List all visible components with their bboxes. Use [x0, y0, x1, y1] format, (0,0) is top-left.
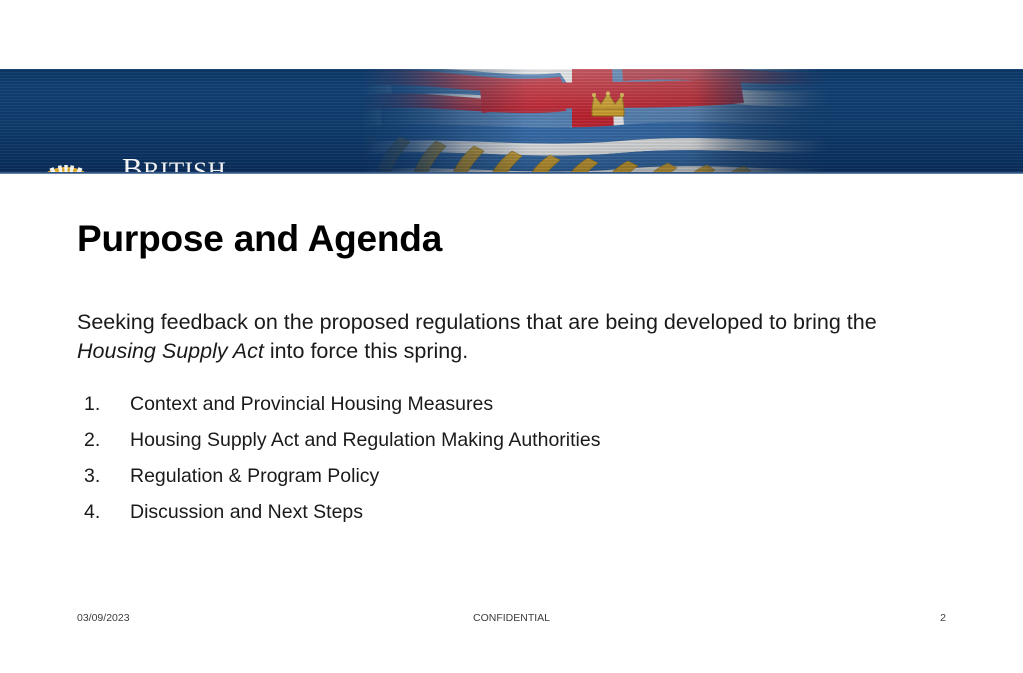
british-columbia-logo: BRITISH COLUMBIA [24, 149, 254, 174]
british-columbia-flag-image [360, 69, 830, 174]
lead-act-name: Housing Supply Act [77, 339, 264, 363]
list-item: 3. Regulation & Program Policy [84, 465, 884, 501]
footer-classification: CONFIDENTIAL [0, 612, 1023, 624]
presentation-slide: BRITISH COLUMBIA Purpose and Agenda Seek… [0, 0, 1023, 673]
logo-wordmark: BRITISH COLUMBIA [122, 149, 263, 174]
page-title: Purpose and Agenda [77, 218, 442, 260]
agenda-number: 4. [84, 501, 130, 524]
agenda-label: Discussion and Next Steps [130, 501, 884, 524]
bc-sun-mountain-icon [24, 153, 108, 174]
agenda-label: Context and Provincial Housing Measures [130, 393, 884, 416]
list-item: 1. Context and Provincial Housing Measur… [84, 393, 884, 429]
footer-page-number: 2 [940, 612, 946, 624]
agenda-label: Housing Supply Act and Regulation Making… [130, 429, 884, 452]
slide-banner: BRITISH COLUMBIA [0, 69, 1023, 174]
lead-paragraph: Seeking feedback on the proposed regulat… [77, 308, 922, 366]
agenda-list: 1. Context and Provincial Housing Measur… [84, 393, 884, 537]
slide-footer: 03/09/2023 CONFIDENTIAL 2 [0, 612, 1023, 630]
logo-british-capital: B [122, 151, 143, 174]
agenda-number: 1. [84, 393, 130, 416]
list-item: 2. Housing Supply Act and Regulation Mak… [84, 429, 884, 465]
logo-line-british: BRITISH [122, 153, 263, 174]
list-item: 4. Discussion and Next Steps [84, 501, 884, 537]
banner-bottom-divider [0, 172, 1023, 174]
lead-text-before: Seeking feedback on the proposed regulat… [77, 310, 877, 334]
agenda-number: 3. [84, 465, 130, 488]
lead-text-after: into force this spring. [264, 339, 468, 363]
agenda-number: 2. [84, 429, 130, 452]
agenda-label: Regulation & Program Policy [130, 465, 884, 488]
